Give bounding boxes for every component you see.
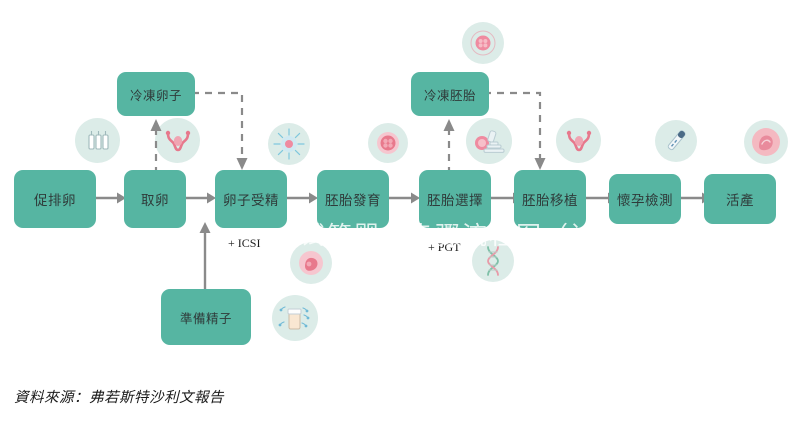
arrow-step1-step2 [95, 190, 127, 206]
step-box-embryo-development[interactable]: 胚胎發育 [317, 170, 389, 228]
step-box-embryo-selection[interactable]: 胚胎選擇 [419, 170, 491, 228]
sperm-sample-icon [272, 295, 318, 341]
annotation-pgt: + PGT [428, 240, 460, 255]
embryo-icon [368, 123, 408, 163]
step-box-egg-retrieval[interactable]: 取卵 [124, 170, 186, 228]
arrow-step4-step5 [389, 190, 421, 206]
vials-icon [75, 118, 120, 163]
pregnancy-test-icon [655, 120, 697, 162]
step-box-pregnancy-test[interactable]: 懷孕檢測 [609, 174, 681, 224]
blastocyst-icon [290, 242, 332, 284]
arrow-sperm-to-fertilization [196, 220, 214, 292]
baby-icon [744, 120, 788, 164]
branch-box-frozen-eggs[interactable]: 冷凍卵子 [117, 72, 195, 116]
step-box-live-birth[interactable]: 活產 [704, 174, 776, 224]
dashed-arrow-retrieval-to-frozen-eggs [147, 116, 165, 174]
arrow-step2-step3 [185, 190, 217, 206]
source-note: 資料來源：弗若斯特沙利文報告 [14, 386, 224, 407]
dna-icon [472, 240, 514, 282]
fertilization-icon [268, 123, 310, 165]
dashed-arrow-frozen-embryo-to-transfer [482, 83, 568, 173]
branch-box-frozen-embryos[interactable]: 冷凍胚胎 [411, 72, 489, 116]
arrow-step3-step4 [287, 190, 319, 206]
step-box-embryo-transfer[interactable]: 胚胎移植 [514, 170, 586, 228]
step-box-ovarian-stimulation[interactable]: 促排卵 [14, 170, 96, 228]
dashed-arrow-selection-to-frozen-embryo [440, 116, 458, 174]
frozen-embryo-icon [462, 22, 504, 64]
annotation-icsi: + ICSI [228, 236, 260, 251]
dashed-arrow-frozen-eggs-to-fertilization [190, 83, 270, 173]
branch-box-sperm-preparation[interactable]: 準備精子 [161, 289, 251, 345]
step-box-fertilization[interactable]: 卵子受精 [215, 170, 287, 228]
ivf-process-flowchart: 促排卵 取卵 卵子受精 胚胎發育 胚胎選擇 胚胎移植 懷孕檢測 活產 冷凍卵子 … [0, 0, 807, 426]
